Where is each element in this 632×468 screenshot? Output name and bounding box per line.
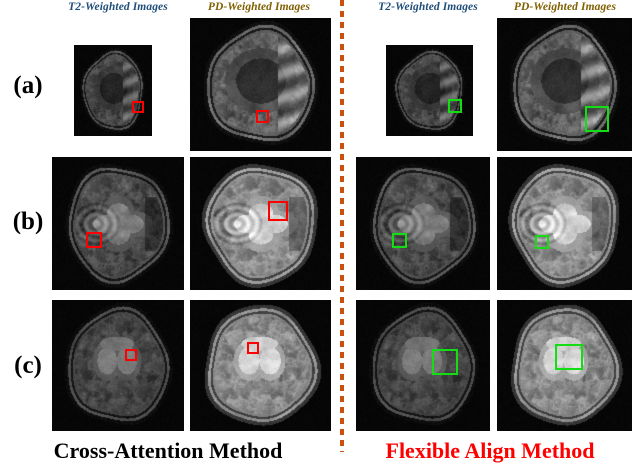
roi-box-red-c-left-t2	[125, 349, 137, 361]
mri-panel-a-left-t2	[74, 45, 152, 136]
roi-box-red-a-left-t2	[132, 101, 144, 113]
brain-slice-image	[386, 45, 473, 136]
mri-panel-b-right-pd	[497, 157, 632, 290]
roi-box-green-b-right-t2	[392, 233, 407, 248]
brain-slice-image	[52, 157, 184, 290]
mri-panel-a-right-t2	[386, 45, 473, 136]
caption-flexible-align: Flexible Align Method	[348, 436, 632, 466]
mri-panel-a-left-pd	[190, 18, 331, 151]
roi-box-red-a-left-pd	[256, 110, 269, 123]
column-header-right-t2: T2-Weighted Images	[368, 0, 488, 15]
row-label-a: (a)	[2, 72, 54, 100]
mri-panel-a-right-pd	[497, 18, 632, 151]
roi-box-green-b-right-pd	[535, 235, 549, 249]
caption-cross-attention: Cross-Attention Method	[0, 436, 336, 466]
row-label-c: (c)	[2, 352, 54, 380]
mri-panel-c-left-t2	[52, 300, 184, 431]
roi-box-red-b-left-t2	[86, 232, 102, 248]
roi-box-red-c-left-pd	[247, 342, 259, 354]
brain-slice-image	[190, 157, 331, 290]
method-divider	[340, 0, 344, 452]
column-header-left-pd: PD-Weighted Images	[194, 0, 324, 15]
roi-box-green-c-right-t2	[432, 349, 458, 375]
mri-panel-b-right-t2	[356, 157, 490, 290]
brain-slice-image	[52, 300, 184, 431]
column-header-left-t2: T2-Weighted Images	[58, 0, 178, 15]
mri-panel-c-left-pd	[190, 300, 331, 431]
figure-root: T2-Weighted ImagesPD-Weighted ImagesT2-W…	[0, 0, 632, 468]
brain-slice-image	[74, 45, 152, 136]
brain-slice-image	[190, 18, 331, 151]
mri-panel-c-right-t2	[356, 300, 490, 431]
mri-panel-b-left-pd	[190, 157, 331, 290]
brain-slice-image	[356, 300, 490, 431]
mri-panel-c-right-pd	[497, 300, 632, 431]
brain-slice-image	[356, 157, 490, 290]
roi-box-green-a-right-t2	[448, 99, 462, 113]
brain-slice-image	[497, 157, 632, 290]
roi-box-red-b-left-pd	[268, 201, 288, 221]
mri-panel-b-left-t2	[52, 157, 184, 290]
roi-box-green-c-right-pd	[555, 344, 583, 370]
brain-slice-image	[497, 18, 632, 151]
column-header-right-pd: PD-Weighted Images	[500, 0, 630, 15]
brain-slice-image	[190, 300, 331, 431]
roi-box-green-a-right-pd	[585, 106, 609, 132]
row-label-b: (b)	[2, 208, 54, 236]
